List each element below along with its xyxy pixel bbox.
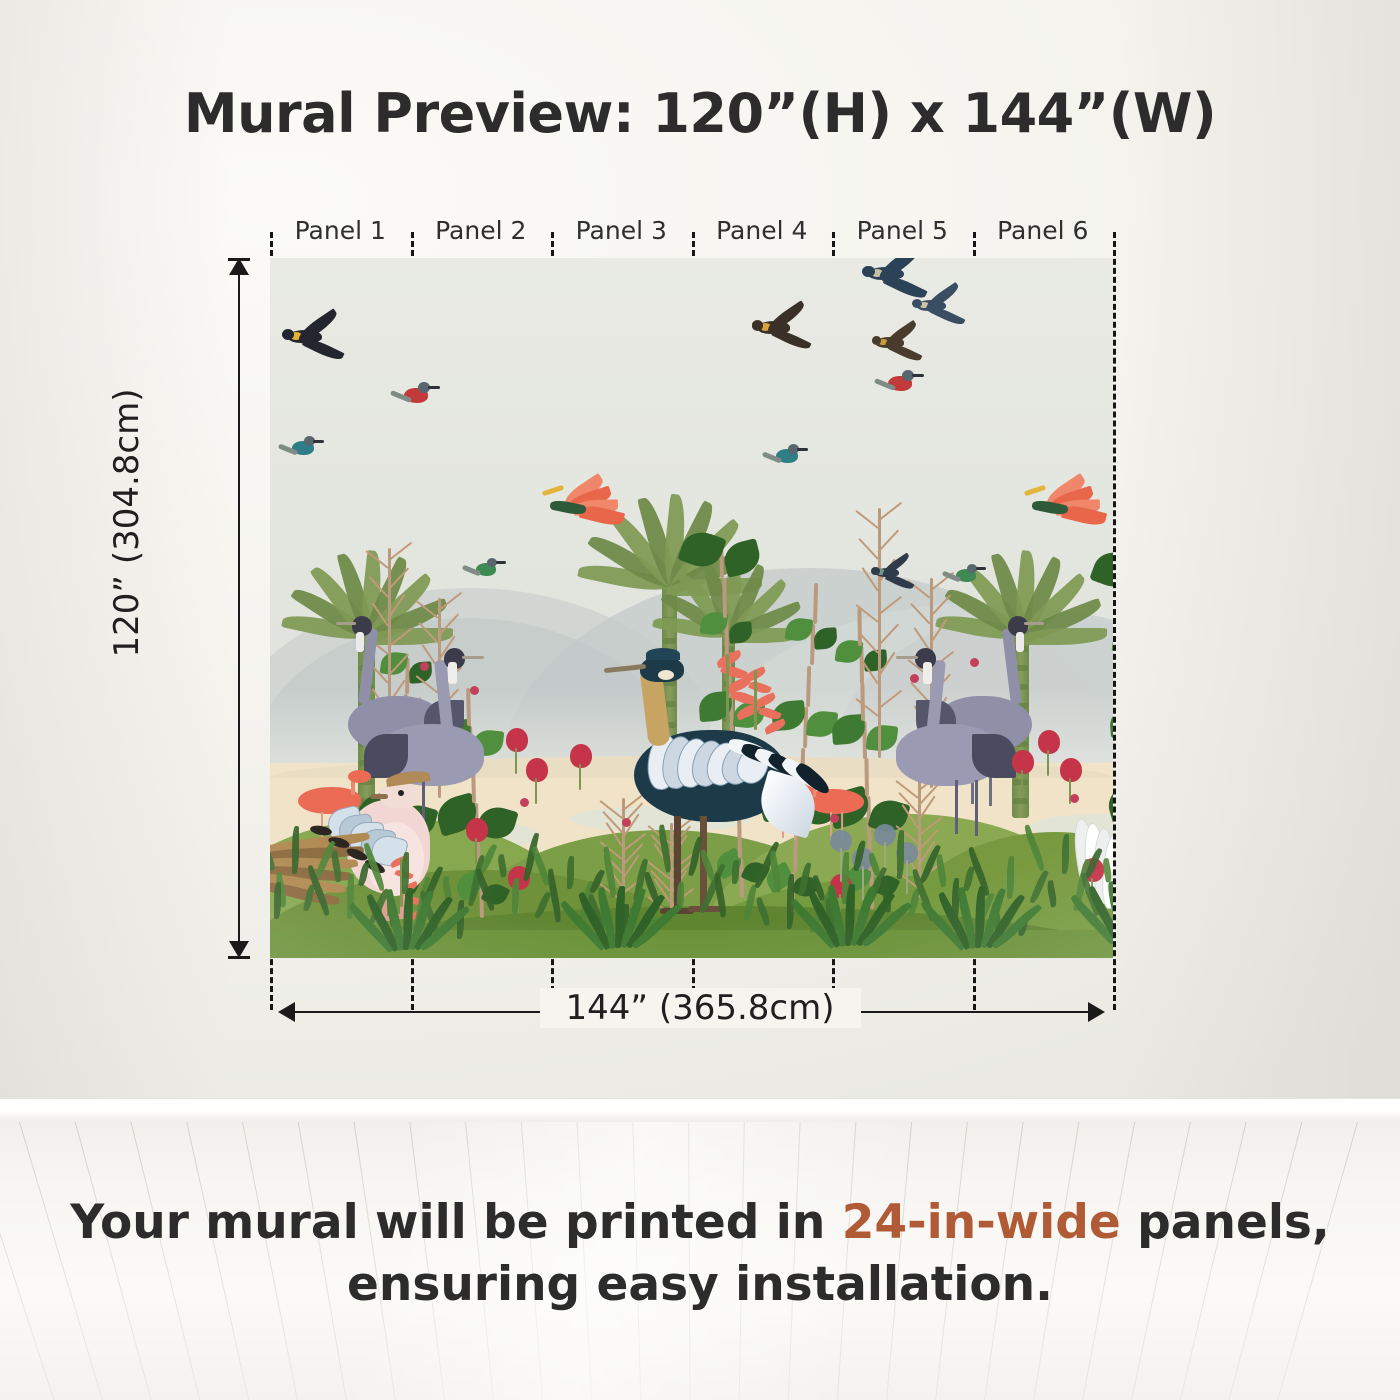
crane-back-napestripe-left <box>356 632 364 652</box>
crane-front-beak-right <box>896 656 918 659</box>
berry-7 <box>830 814 839 823</box>
panel-divider-6 <box>1113 232 1116 1010</box>
bird-of-paradise-center-left <box>548 480 618 544</box>
perched-bird-teal-right <box>770 444 808 475</box>
width-label-text: 144” (365.8cm) <box>540 988 861 1028</box>
footer-caption: Your mural will be printed in 24-in-wide… <box>0 1192 1400 1316</box>
ground-flower-stem-3 <box>1047 750 1049 776</box>
swallow-top-center2 <box>870 326 926 363</box>
swallow-top-right-b <box>910 288 970 327</box>
bird-of-paradise-right <box>1030 480 1100 544</box>
crane-front-tail-right <box>972 734 1016 778</box>
perched-bird-crimson-right <box>882 370 924 404</box>
swallow-head-top-center <box>752 320 763 330</box>
ground-flower-stem-9 <box>475 838 477 864</box>
panel-label-5: Panel 5 <box>832 216 972 245</box>
swallow-head-mid-center <box>871 567 879 575</box>
hero-cheek <box>658 670 674 680</box>
ground-flower-5 <box>1012 750 1034 774</box>
panel-label-4: Panel 4 <box>692 216 832 245</box>
pheasant-eye <box>398 790 404 796</box>
palm-trunk-texture-mid1-2 <box>663 638 676 644</box>
perched-bird-green-left <box>470 558 506 587</box>
crane-front-beak-left <box>462 656 484 659</box>
panel-label-6: Panel 6 <box>973 216 1113 245</box>
swallow-mid-center <box>870 558 919 590</box>
thistle-stem-1 <box>862 866 864 900</box>
crane-front-napestripe-right <box>923 662 932 684</box>
ground-flower-stem-5 <box>1021 770 1023 796</box>
caption-accent: 24-in-wide <box>842 1195 1121 1250</box>
grass-tuft-57 <box>897 830 904 879</box>
mural-artwork <box>270 258 1113 958</box>
perched-beak-crimson-right <box>912 374 924 377</box>
swallow-top-center <box>750 308 817 352</box>
height-dimension-line <box>238 258 240 958</box>
ground-flower-3 <box>1038 730 1060 754</box>
crane-back-beak-left <box>336 622 356 625</box>
vine-stem-c2-7 <box>813 583 818 624</box>
grass-tuft-77 <box>274 882 281 919</box>
berry-2 <box>910 674 919 683</box>
panel-label-2: Panel 2 <box>411 216 551 245</box>
vine-stem-c1-7 <box>722 578 727 618</box>
panel-label-3: Panel 3 <box>551 216 691 245</box>
berry-0 <box>420 662 429 671</box>
pheasant-beak <box>370 794 388 799</box>
ground-flower-9 <box>466 818 488 842</box>
berry-6 <box>622 818 631 827</box>
swallow-wing-lower-top-center <box>771 326 811 353</box>
ground-flower-0 <box>506 728 528 752</box>
mural-preview[interactable] <box>270 258 1113 958</box>
grass-tuft-27 <box>567 856 574 889</box>
heliconia-stem-b <box>754 670 757 730</box>
ground-flower-stem-0 <box>515 748 517 774</box>
baseboard <box>0 1098 1400 1124</box>
ground-flower-stem-2 <box>579 764 581 790</box>
berry-3 <box>970 658 979 667</box>
swallow-wing-lower-mid-center <box>885 571 915 591</box>
swallow-head-top-left <box>282 329 294 340</box>
swallow-head-top-right-a <box>862 266 875 278</box>
swallow-wing-lower-top-right-b <box>929 304 965 328</box>
height-arrow-up <box>229 258 249 275</box>
berry-5 <box>1070 794 1079 803</box>
caption-lead: Your mural will be printed in <box>70 1195 841 1250</box>
crane-front-leg2-right <box>955 780 958 834</box>
swallow-wing-lower-top-left <box>302 335 345 363</box>
ground-flower-1 <box>526 758 548 782</box>
perched-bird-green-right <box>950 564 986 593</box>
ground-flower-stem-1 <box>535 778 537 804</box>
swallow-top-left <box>280 316 350 362</box>
crane-back-napestripe-right <box>1016 632 1024 652</box>
grass-tuft-67 <box>1007 856 1014 899</box>
perched-beak-green-right <box>976 567 986 570</box>
ground-flower-2 <box>570 744 592 768</box>
grass-tuft-42 <box>732 860 739 884</box>
perched-beak-crimson-left <box>428 386 440 389</box>
page-title: Mural Preview: 120”(H) x 144”(W) <box>0 82 1400 145</box>
crane-group-right <box>870 588 1050 838</box>
panel-label-1: Panel 1 <box>270 216 410 245</box>
grass-tuft-22 <box>512 878 519 914</box>
perched-beak-green-left <box>496 561 506 564</box>
thistle-stem-3 <box>906 860 908 894</box>
grass-tuft-72 <box>1062 834 1069 874</box>
berry-1 <box>470 686 479 695</box>
vine-stem-c3-7 <box>857 608 862 646</box>
height-arrow-down <box>229 941 249 958</box>
crane-front-napestripe-left <box>448 662 457 684</box>
wall-shadow-right <box>1120 0 1400 1108</box>
width-label: 144” (365.8cm) <box>0 988 1400 1028</box>
hero-crest <box>646 648 680 660</box>
crane-back-beak-right <box>1024 622 1044 625</box>
perched-beak-teal-left <box>313 440 324 443</box>
berry-4 <box>520 798 529 807</box>
vine-stem-c3-3 <box>864 758 869 796</box>
perched-beak-teal-right <box>797 448 808 451</box>
ground-flower-4 <box>1060 758 1082 782</box>
grass-tuft-2 <box>292 826 299 874</box>
crane-front-leg1-right <box>975 780 978 836</box>
swallow-wing-lower-top-center2 <box>888 341 922 364</box>
height-label: 120” (304.8cm) <box>107 363 147 683</box>
perched-bird-crimson-left <box>398 382 440 416</box>
perched-bird-teal-left <box>286 436 324 467</box>
heliconia-stem-a <box>726 654 729 724</box>
